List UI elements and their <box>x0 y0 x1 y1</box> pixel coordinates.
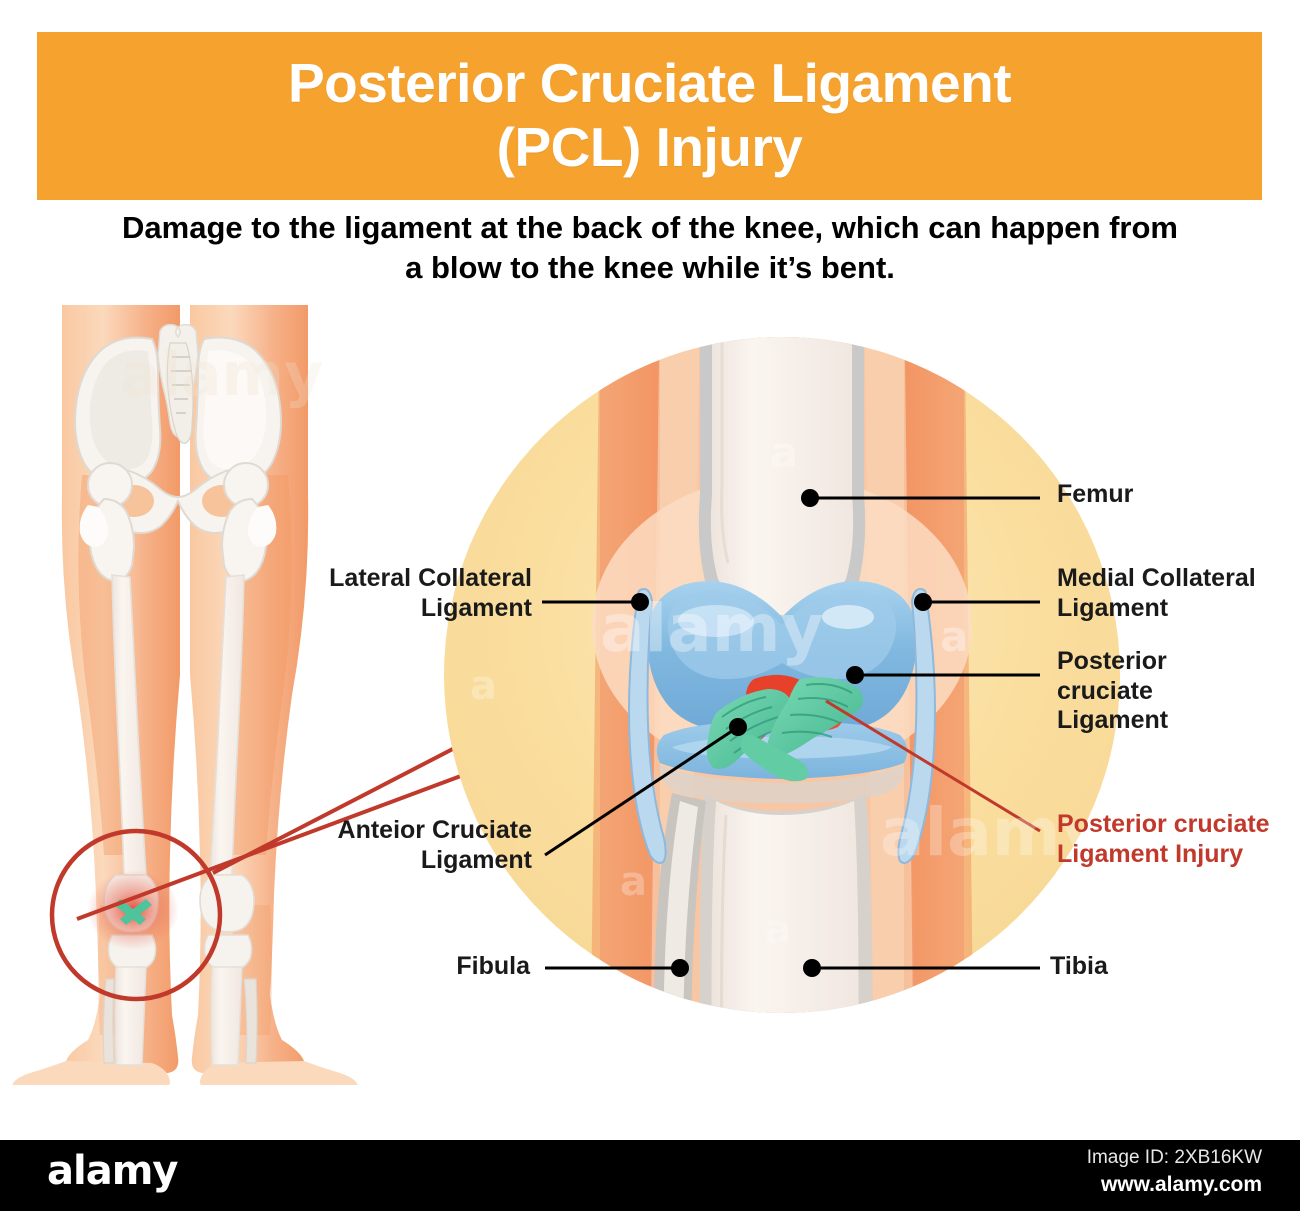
dot-lcl <box>631 593 649 611</box>
footer-bar: alamy Image ID: 2XB16KW www.alamy.com <box>0 1140 1300 1211</box>
label-tibia: Tibia <box>1050 952 1190 982</box>
full-body-legs-illustration <box>12 305 358 1085</box>
label-fibula: Fibula <box>400 952 530 982</box>
label-posterior-cruciate-ligament: Posterior cruciate Ligament <box>1057 647 1267 736</box>
dot-acl <box>729 718 747 736</box>
dot-pcl <box>846 666 864 684</box>
label-lateral-collateral-ligament: Lateral Collateral Ligament <box>310 564 532 623</box>
title-banner: Posterior Cruciate Ligament (PCL) Injury <box>37 32 1262 200</box>
dot-fibula <box>671 959 689 977</box>
website-url: www.alamy.com <box>1101 1173 1262 1197</box>
label-posterior-cruciate-ligament-injury: Posterior cruciate Ligament Injury <box>1057 810 1272 869</box>
label-medial-collateral-ligament: Medial Collateral Ligament <box>1057 564 1267 623</box>
femur-shaft <box>711 295 853 615</box>
alamy-logo: alamy <box>47 1148 177 1194</box>
magnified-knee-diagram <box>444 295 1120 1085</box>
dot-mcl <box>914 593 932 611</box>
label-femur: Femur <box>1057 480 1257 510</box>
page-title: Posterior Cruciate Ligament (PCL) Injury <box>288 52 1011 180</box>
image-id-text: Image ID: 2XB16KW <box>1087 1147 1262 1169</box>
subtitle-description: Damage to the ligament at the back of th… <box>70 208 1230 289</box>
dot-femur <box>801 489 819 507</box>
dot-tibia <box>803 959 821 977</box>
label-anterior-cruciate-ligament: Anteior Cruciate Ligament <box>310 816 532 875</box>
